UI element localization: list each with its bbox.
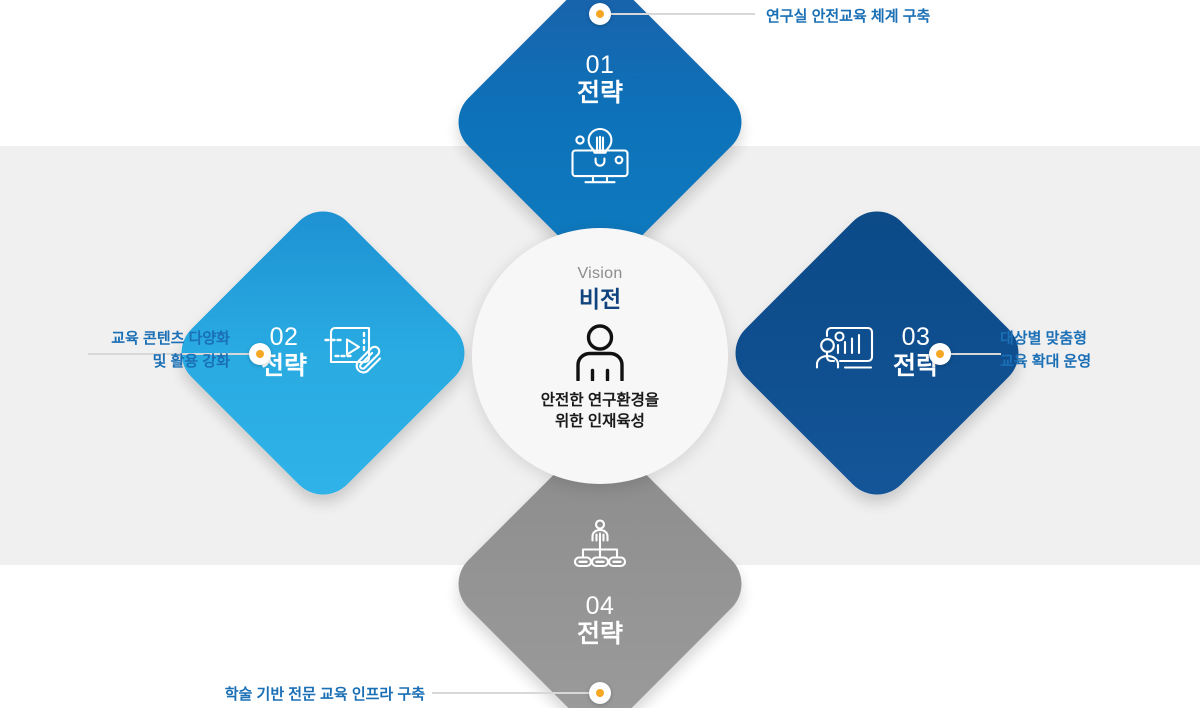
vision-description-line1: 안전한 연구환경을: [541, 391, 659, 411]
strategy-02-number: 02: [270, 324, 299, 350]
strategy-03-number: 03: [902, 324, 931, 350]
connector-line-03: [946, 353, 1001, 355]
callout-01-line1: 연구실 안전교육 체계 구축: [766, 6, 930, 29]
person-icon: [572, 323, 628, 386]
strategy-01-content: 01 전략: [490, 12, 710, 232]
connector-dot-02: [249, 343, 271, 365]
callout-04-line1: 학술 기반 전문 교육 인프라 구축: [0, 684, 425, 707]
vision-strategy-diagram: 01 전략 02: [0, 0, 1200, 708]
callout-02: 교육 콘텐츠 다양화 및 활용 강화: [0, 328, 230, 373]
vision-circle: Vision 비전 안전한 연구환경을 위한 인재육성: [472, 228, 728, 484]
callout-03-line2: 교육 확대 운영: [1000, 351, 1091, 374]
strategy-01-number: 01: [586, 52, 615, 78]
callout-02-line2: 및 활용 강화: [0, 351, 230, 374]
vision-label-en: Vision: [577, 264, 622, 283]
connector-dot-04: [589, 682, 611, 704]
lightbulb-monitor-icon: [567, 125, 633, 192]
callout-04: 학술 기반 전문 교육 인프라 구축: [0, 684, 425, 707]
callout-02-line1: 교육 콘텐츠 다양화: [0, 328, 230, 351]
presenter-chart-icon: [815, 322, 877, 385]
strategy-04-content: 04 전략: [490, 474, 710, 694]
strategy-04-number: 04: [586, 593, 615, 619]
vision-description: 안전한 연구환경을 위한 인재육성: [541, 391, 659, 432]
connector-line-01: [610, 13, 755, 15]
connector-line-04: [432, 692, 592, 694]
vision-description-line2: 위한 인재육성: [541, 412, 659, 432]
strategy-04-word: 전략: [577, 619, 623, 650]
callout-01: 연구실 안전교육 체계 구축: [766, 6, 930, 29]
strategy-01-word: 전략: [577, 78, 623, 109]
connector-dot-03: [929, 343, 951, 365]
connector-dot-01: [589, 3, 611, 25]
video-attachment-icon: [323, 322, 385, 385]
vision-label-ko: 비전: [579, 284, 621, 315]
org-chart-icon: [572, 518, 628, 575]
callout-03: 대상별 맞춤형 교육 확대 운영: [1000, 328, 1091, 373]
callout-03-line1: 대상별 맞춤형: [1000, 328, 1091, 351]
